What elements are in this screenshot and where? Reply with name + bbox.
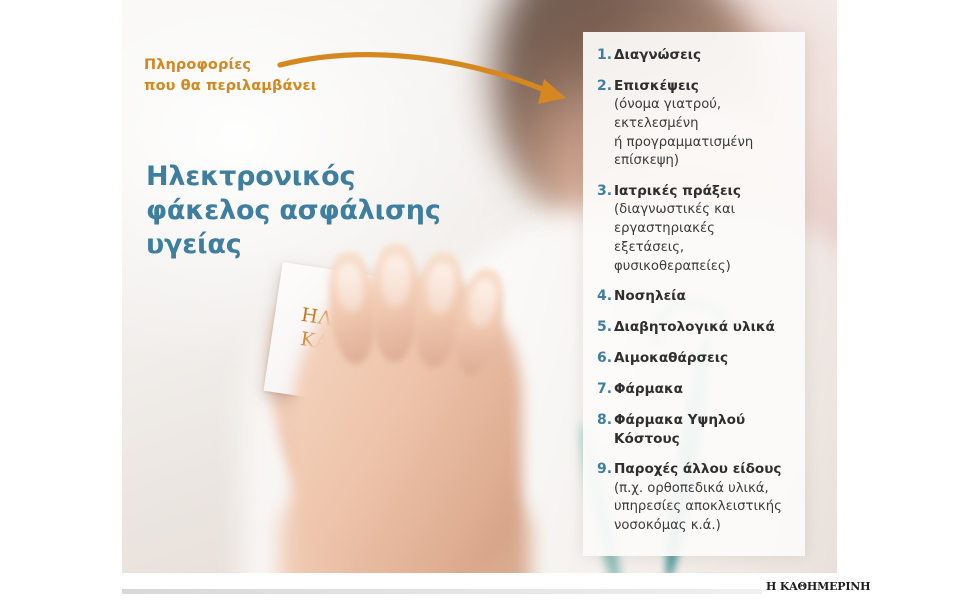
list-item-title: Παροχές άλλου είδους: [614, 460, 782, 479]
headline-line2: φάκελος ασφάλισης: [146, 194, 441, 228]
list-item-title: Επισκέψεις: [614, 77, 753, 96]
list-item-number: 6.: [597, 349, 614, 369]
list-item: 2.Επισκέψεις(όνομα γιατρού,εκτελεσμένηή …: [597, 77, 793, 171]
list-item-number: 7.: [597, 380, 614, 400]
list-item: 4.Νοσηλεία: [597, 287, 793, 307]
list-item-title: Ιατρικές πράξεις: [614, 182, 741, 201]
list-item-number: 3.: [597, 182, 614, 202]
list-item-number: 4.: [597, 287, 614, 307]
list-item-body: Επισκέψεις(όνομα γιατρού,εκτελεσμένηή πρ…: [614, 77, 753, 171]
list-item-number: 2.: [597, 77, 614, 97]
infographic-root: ΗΛΕΚΤΡΟΝΙΚΗ ΚΑΡΤΑ ΥΓΕΙΑΣ Πληροφορίες που…: [0, 0, 960, 600]
list-item-body: Παροχές άλλου είδους(π.χ. ορθοπεδικά υλι…: [614, 460, 782, 536]
list-item-title: Διαγνώσεις: [614, 46, 701, 65]
headline-line1: Ηλεκτρονικός: [146, 160, 441, 194]
list-item-body: Νοσηλεία: [614, 287, 686, 306]
fingernail: [424, 262, 457, 316]
list-item-body: Ιατρικές πράξεις(διαγνωστικές καιεργαστη…: [614, 182, 741, 276]
fingernail: [381, 255, 410, 307]
list-item-title: Αιμοκαθάρσεις: [614, 349, 728, 368]
list-item: 1.Διαγνώσεις: [597, 46, 793, 66]
list-item: 9.Παροχές άλλου είδους(π.χ. ορθοπεδικά υ…: [597, 460, 793, 536]
list-item-number: 9.: [597, 460, 614, 480]
info-list-panel: 1.Διαγνώσεις2.Επισκέψεις(όνομα γιατρού,ε…: [583, 32, 805, 556]
list-item-title: Νοσηλεία: [614, 287, 686, 306]
list-item-number: 8.: [597, 411, 614, 431]
list-item-body: Φάρμακα ΥψηλούΚόστους: [614, 411, 745, 450]
list-item: 3.Ιατρικές πράξεις(διαγνωστικές καιεργασ…: [597, 182, 793, 276]
list-item-number: 5.: [597, 318, 614, 338]
list-item: 8.Φάρμακα ΥψηλούΚόστους: [597, 411, 793, 450]
list-item: 5.Διαβητολογικά υλικά: [597, 318, 793, 338]
list-item-title: Φάρμακα ΥψηλούΚόστους: [614, 411, 745, 450]
list-item-detail: (π.χ. ορθοπεδικά υλικά,υπηρεσίες αποκλει…: [614, 480, 782, 536]
list-item-number: 1.: [597, 46, 614, 66]
fingernail: [334, 262, 365, 313]
list-item-body: Φάρμακα: [614, 380, 683, 399]
list-item: 6.Αιμοκαθάρσεις: [597, 349, 793, 369]
list-item-body: Διαβητολογικά υλικά: [614, 318, 775, 337]
footer-divider: [122, 589, 762, 594]
headline-line3: υγείας: [146, 228, 441, 262]
list-item-title: Φάρμακα: [614, 380, 683, 399]
info-list: 1.Διαγνώσεις2.Επισκέψεις(όνομα γιατρού,ε…: [597, 46, 793, 536]
curved-arrow-icon: [262, 34, 592, 114]
list-item-body: Διαγνώσεις: [614, 46, 701, 65]
list-item-detail: (διαγνωστικές καιεργαστηριακέςεξετάσεις,…: [614, 201, 741, 276]
list-item-body: Αιμοκαθάρσεις: [614, 349, 728, 368]
publisher-logo: Η ΚΑΘΗΜΕΡΙΝΗ: [766, 580, 870, 593]
list-item-detail: (όνομα γιατρού,εκτελεσμένηή προγραμματισ…: [614, 96, 753, 171]
list-item-title: Διαβητολογικά υλικά: [614, 318, 775, 337]
page-title: Ηλεκτρονικός φάκελος ασφάλισης υγείας: [146, 160, 441, 262]
fingernail: [465, 277, 500, 329]
list-item: 7.Φάρμακα: [597, 380, 793, 400]
